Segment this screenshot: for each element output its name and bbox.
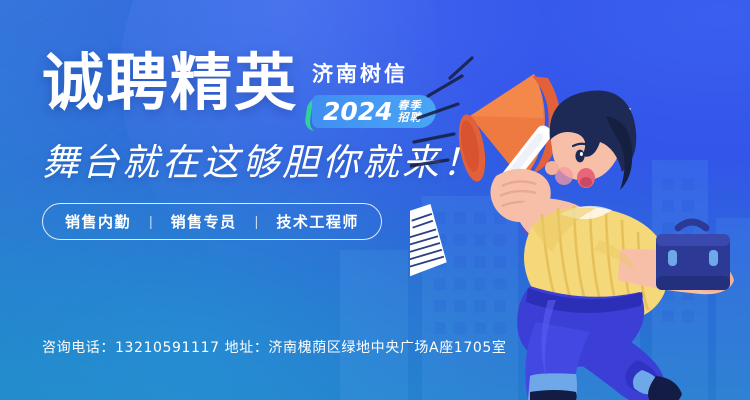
position-item-0: 销售内勤	[65, 211, 131, 232]
character-head	[545, 91, 636, 190]
position-item-2: 技术工程师	[276, 211, 359, 232]
position-item-1: 销售专员	[171, 211, 237, 232]
recruitment-banner: 诚聘精英 济南树信 2024 春季 招聘 舞台就在这够胆你就来！ 销售内勤	[0, 0, 750, 400]
pants	[517, 286, 664, 400]
position-separator-0: |	[149, 213, 153, 229]
briefcase-icon	[656, 222, 730, 290]
illustration-person-with-megaphone	[410, 0, 750, 400]
positions-pill: 销售内勤 | 销售专员 | 技术工程师	[42, 203, 382, 240]
resume-document-icon	[410, 203, 448, 280]
badge-year: 2024	[323, 99, 393, 124]
page-title: 诚聘精英	[42, 52, 298, 114]
position-separator-1: |	[255, 213, 259, 229]
